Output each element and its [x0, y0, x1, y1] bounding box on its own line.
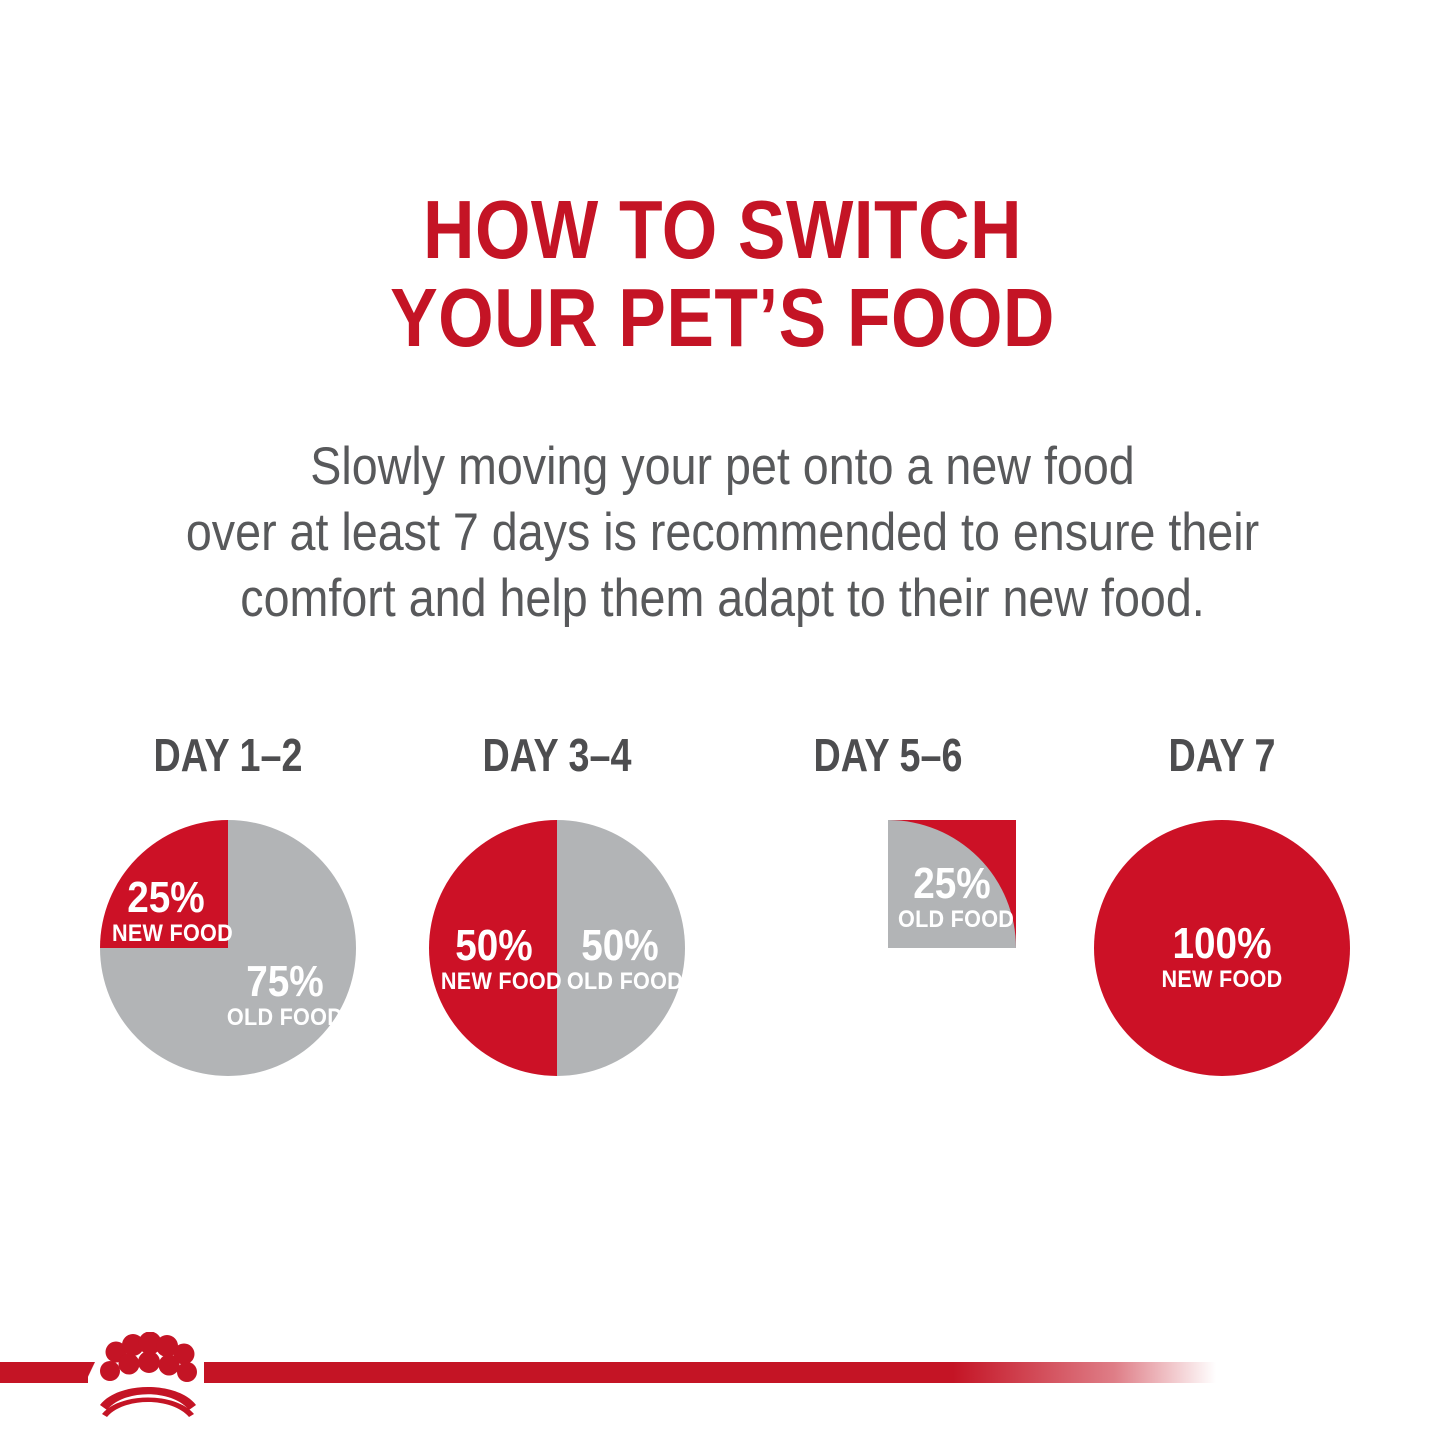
- pie-svg-3: [760, 820, 1016, 1076]
- pie-chart-day-7: 100% NEW FOOD: [1094, 820, 1350, 1076]
- title-line-2: YOUR PET’S FOOD: [101, 274, 1344, 362]
- day-label-1: DAY 1–2: [105, 730, 351, 780]
- footer-bar-left: [0, 1362, 88, 1383]
- day-label-4: DAY 7: [1099, 730, 1345, 780]
- intro-paragraph: Slowly moving your pet onto a new food o…: [0, 434, 1445, 632]
- pie-group-day-1-2: DAY 1–2 25% NEW FOOD 75% OLD FOOD: [78, 730, 378, 1130]
- footer-bar-right: [204, 1362, 1216, 1383]
- pie-svg-1: [100, 820, 356, 1076]
- page-title: HOW TO SWITCH YOUR PET’S FOOD: [0, 186, 1445, 362]
- title-line-1: HOW TO SWITCH: [101, 186, 1344, 274]
- pie-group-day-3-4: DAY 3–4 50% NEW FOOD 50% OLD FOOD: [407, 730, 707, 1130]
- pie-chart-row: DAY 1–2 25% NEW FOOD 75% OLD FOOD DAY 3–…: [0, 730, 1445, 1130]
- pie-chart-day-1-2: 25% NEW FOOD 75% OLD FOOD: [100, 820, 356, 1076]
- pie-group-day-5-6: DAY 5–6 75% NEW FOOD 25% OLD FOOD: [738, 730, 1038, 1130]
- royal-canin-crown-icon: [88, 1332, 208, 1418]
- pie-group-day-7: DAY 7 100% NEW FOOD: [1072, 730, 1372, 1130]
- pie-slice-new-food: [429, 820, 557, 1076]
- pie-chart-day-3-4: 50% NEW FOOD 50% OLD FOOD: [429, 820, 685, 1076]
- pie-chart-day-5-6: 75% NEW FOOD 25% OLD FOOD: [760, 820, 1016, 1076]
- intro-line-1: Slowly moving your pet onto a new food: [87, 434, 1359, 500]
- intro-line-2: over at least 7 days is recommended to e…: [87, 500, 1359, 566]
- infographic-page: HOW TO SWITCH YOUR PET’S FOOD Slowly mov…: [0, 0, 1445, 1445]
- intro-line-3: comfort and help them adapt to their new…: [87, 566, 1359, 632]
- pie-svg-4: [1094, 820, 1350, 1076]
- footer-brand-band: [0, 1318, 1445, 1445]
- day-label-3: DAY 5–6: [765, 730, 1011, 780]
- pie-slice-new-food: [1094, 820, 1350, 1076]
- day-label-2: DAY 3–4: [434, 730, 680, 780]
- pie-slice-new-food: [100, 820, 228, 948]
- pie-svg-2: [429, 820, 685, 1076]
- pie-slice-old-food: [557, 820, 685, 1076]
- crown-svg: [88, 1332, 208, 1418]
